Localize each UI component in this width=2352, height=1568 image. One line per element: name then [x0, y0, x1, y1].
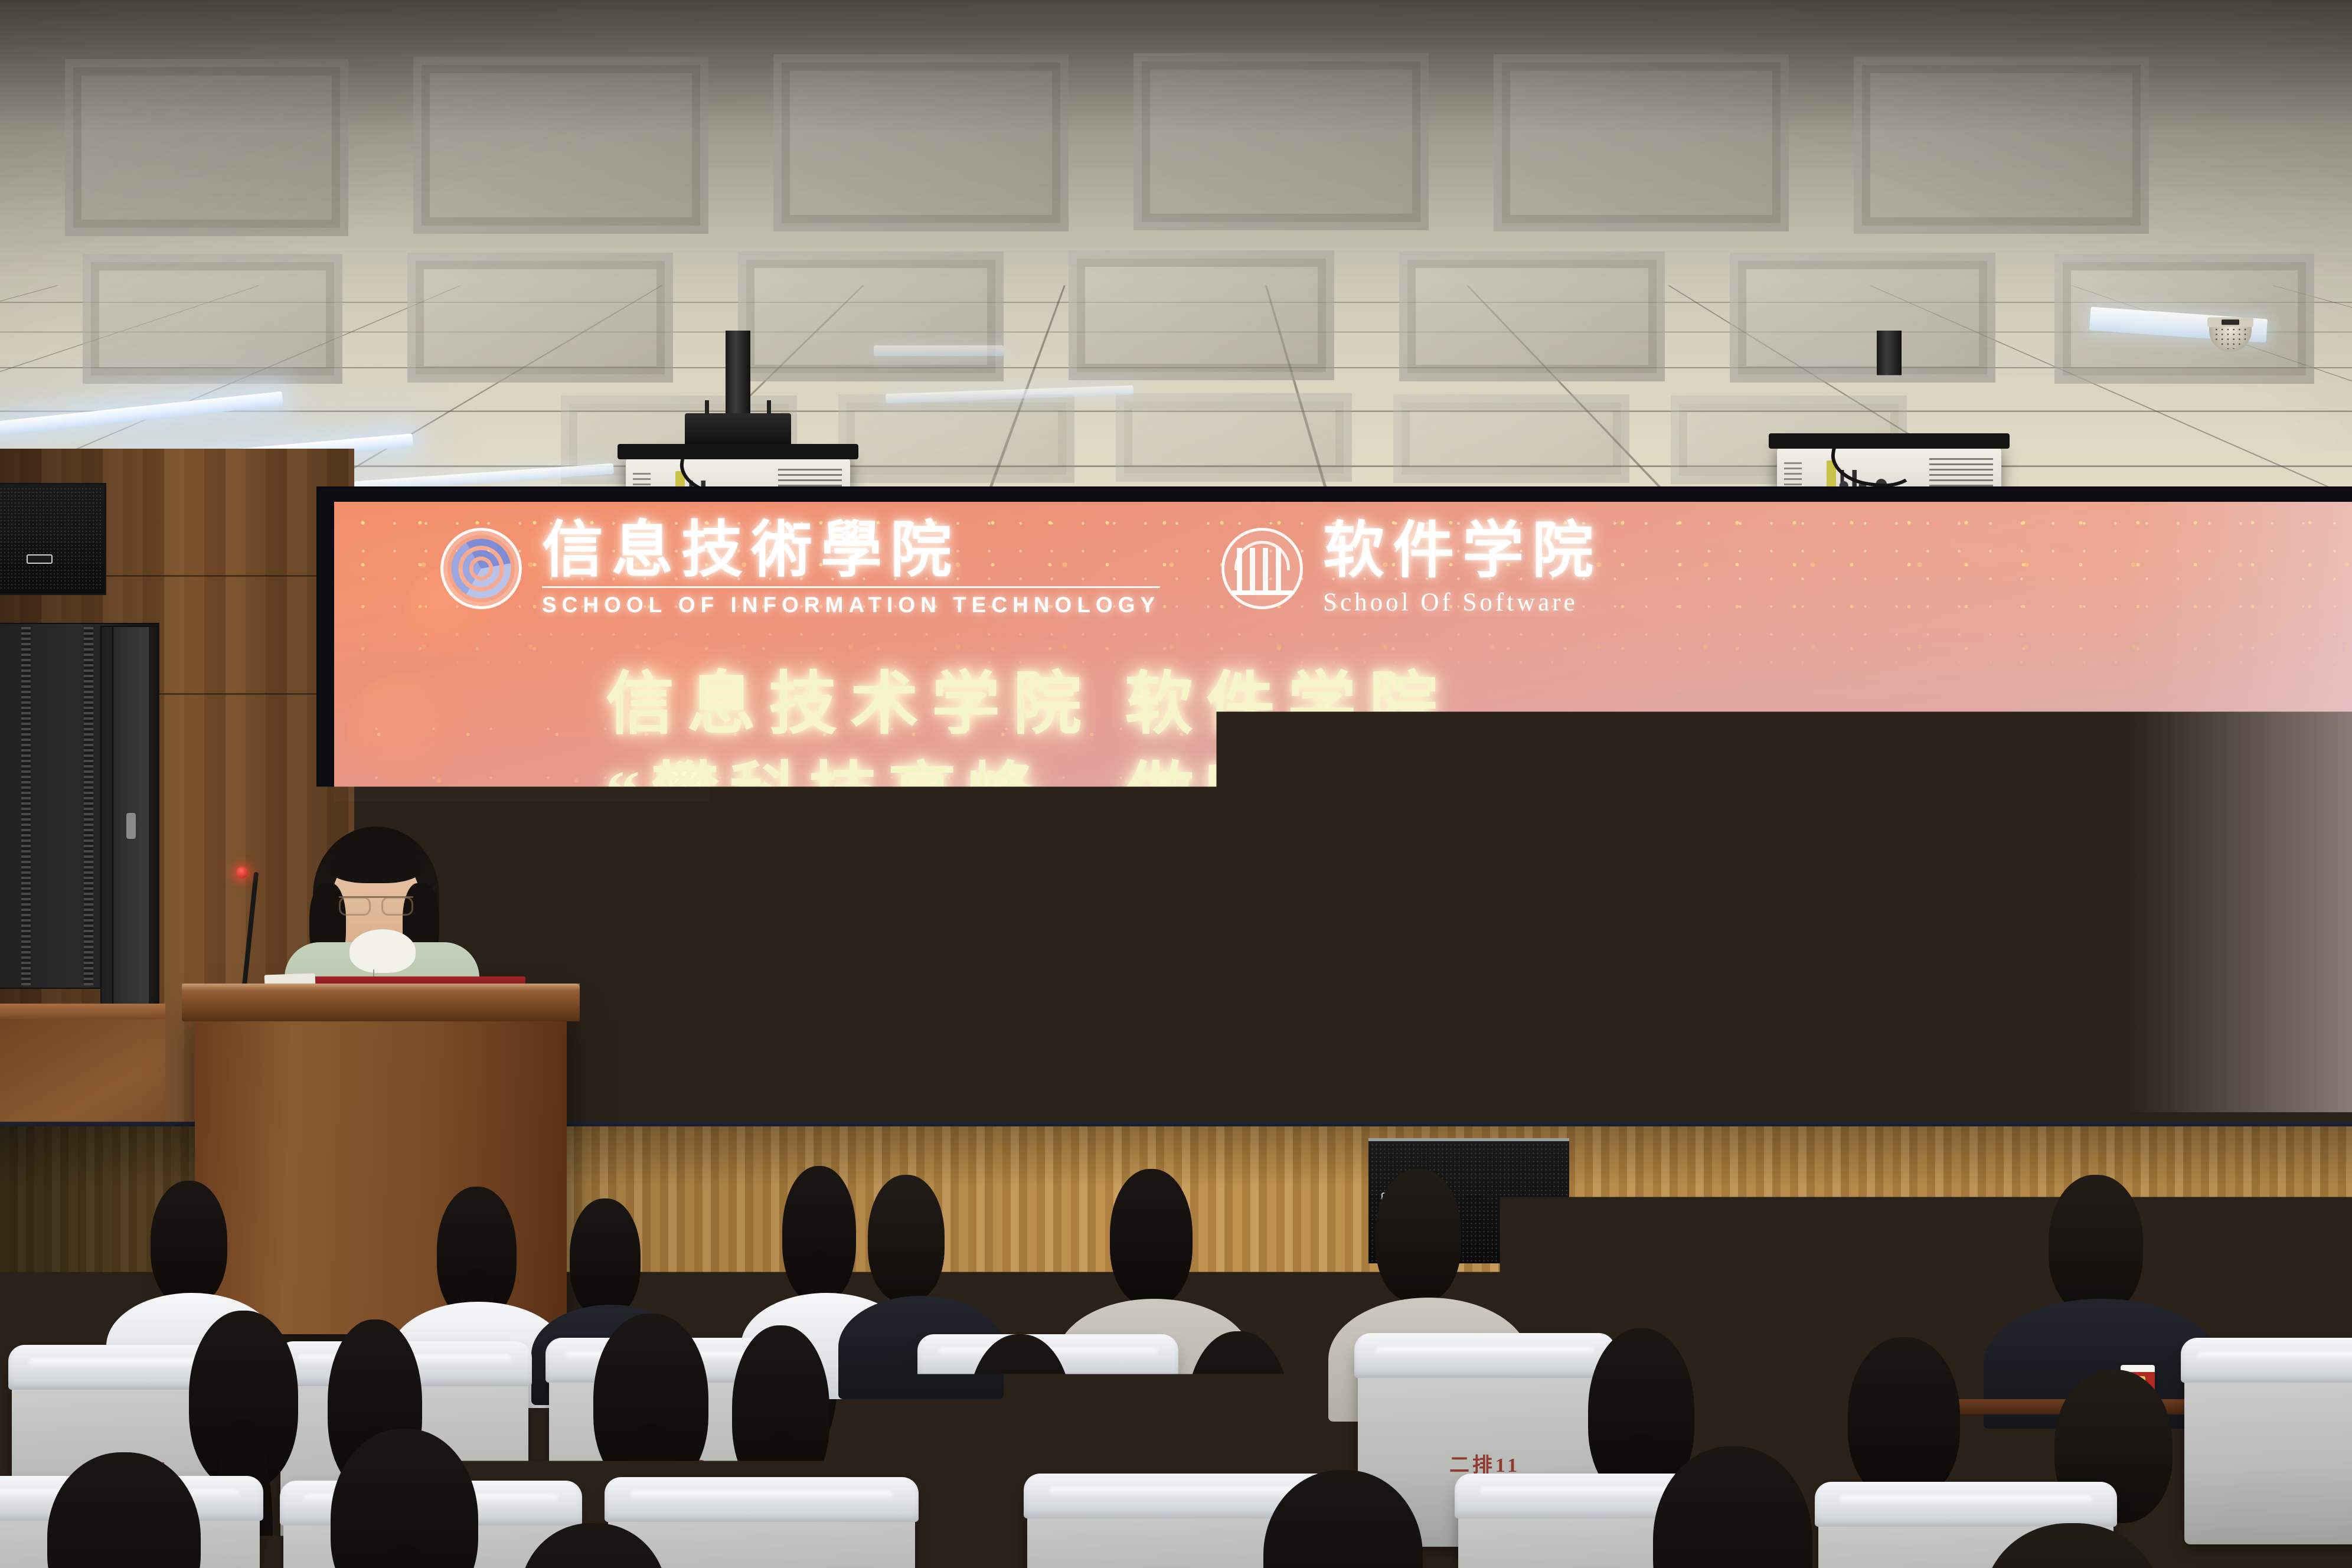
coffered-ceiling-panel [1393, 394, 1629, 483]
screen-title-line-1: 信息技术学院 软件学院 [606, 660, 2352, 750]
bokeh-circle [346, 673, 470, 782]
rack-door-handle[interactable] [126, 813, 136, 839]
logo-chinese-software: 软件学院 [1323, 520, 1602, 583]
seal-swirl-icon [450, 538, 512, 599]
school-of-software-logo: 软件学院 School Of Software [1323, 520, 1602, 616]
audience-head [868, 1175, 945, 1302]
side-console-desk-top [0, 1004, 165, 1019]
audience-head [968, 1334, 1072, 1494]
coffered-ceiling-panel [1494, 54, 1789, 231]
audience-area: 二排14 二排13 二排13 二排12 二排11 [0, 1193, 2352, 1568]
audience-head [1110, 1169, 1193, 1305]
coffered-ceiling-panel [1730, 253, 1995, 383]
coffered-ceiling-panel [1069, 250, 1334, 380]
rack-vent-strip [21, 626, 31, 985]
seal-pillars-icon [1237, 548, 1288, 590]
screen-title-line-3: 社团文化节暨周末文化广场 [606, 841, 2352, 931]
school-of-information-technology-seal-icon [440, 528, 522, 609]
speaker-grille [0, 487, 102, 591]
logo-chinese-it: 信息技術學院 [542, 520, 1160, 582]
coffered-ceiling-panel [407, 253, 673, 383]
projection-screen: 信息技術學院 SCHOOL OF INFORMATION TECHNOLOGY … [334, 502, 2352, 1112]
audience-head [189, 1311, 298, 1488]
audience-head [1376, 1169, 1461, 1302]
rack-vent-strip [84, 626, 93, 985]
coffered-ceiling-panel [838, 394, 1074, 483]
speaker-collar [349, 929, 416, 973]
ceiling [0, 0, 2352, 508]
coffered-ceiling-panel [1116, 393, 1352, 482]
audience-head [593, 1314, 708, 1491]
fluorescent-strip-light [874, 345, 1004, 356]
auditorium-scene: 信息技術學院 SCHOOL OF INFORMATION TECHNOLOGY … [0, 0, 2352, 1568]
speaker-glasses [339, 896, 413, 912]
screen-logo-row: 信息技術學院 SCHOOL OF INFORMATION TECHNOLOGY … [440, 518, 1739, 619]
audience-head [151, 1181, 227, 1305]
audience-head [2049, 1175, 2143, 1314]
speaker-badge [27, 554, 53, 564]
audience-head [570, 1198, 641, 1317]
seat-cover [1354, 1333, 1615, 1378]
projector-pole [726, 331, 750, 419]
audience-head [732, 1325, 829, 1497]
wall-mounted-loudspeaker [0, 483, 106, 595]
audience-head [1848, 1337, 1960, 1500]
speaker-bangs [328, 847, 423, 883]
seat-cover [1815, 1482, 2117, 1527]
coffered-ceiling-panel [65, 59, 348, 236]
school-of-software-seal-icon [1221, 528, 1303, 609]
equipment-rack [100, 626, 159, 1015]
projector-pole [1877, 331, 1902, 407]
seat-2row-right[interactable] [2184, 1344, 2352, 1544]
screen-title-line-2: “攀科技高峰，做时代新人” [606, 750, 2352, 841]
audience-head [437, 1187, 517, 1319]
coffered-ceiling-panel [1399, 251, 1665, 381]
coffered-ceiling-panel [83, 254, 342, 384]
screen-event-date: 2024年3月22日 [1137, 942, 2352, 989]
coffered-ceiling-panel [773, 54, 1069, 231]
lectern-top [182, 984, 580, 1021]
coffered-ceiling-panel [1854, 57, 2149, 234]
microphone-led [236, 867, 248, 878]
coffered-ceiling-panel [1133, 53, 1429, 230]
audience-head [782, 1166, 856, 1302]
screen-title-block: 信息技术学院 软件学院 “攀科技高峰，做时代新人” 社团文化节暨周末文化广场 2… [606, 660, 2352, 989]
coffered-ceiling-panel [738, 251, 1004, 381]
seat-cover [2181, 1338, 2352, 1383]
school-of-information-technology-logo: 信息技術學院 SCHOOL OF INFORMATION TECHNOLOGY [542, 520, 1160, 617]
dome-camera-mesh [2214, 327, 2248, 349]
logo-english-it: SCHOOL OF INFORMATION TECHNOLOGY [542, 586, 1160, 618]
projection-screen-frame: 信息技術學院 SCHOOL OF INFORMATION TECHNOLOGY … [319, 489, 2352, 1126]
rack-door [112, 627, 149, 1014]
logo-english-software: School Of Software [1323, 587, 1602, 617]
coffered-ceiling-panel [413, 57, 708, 234]
